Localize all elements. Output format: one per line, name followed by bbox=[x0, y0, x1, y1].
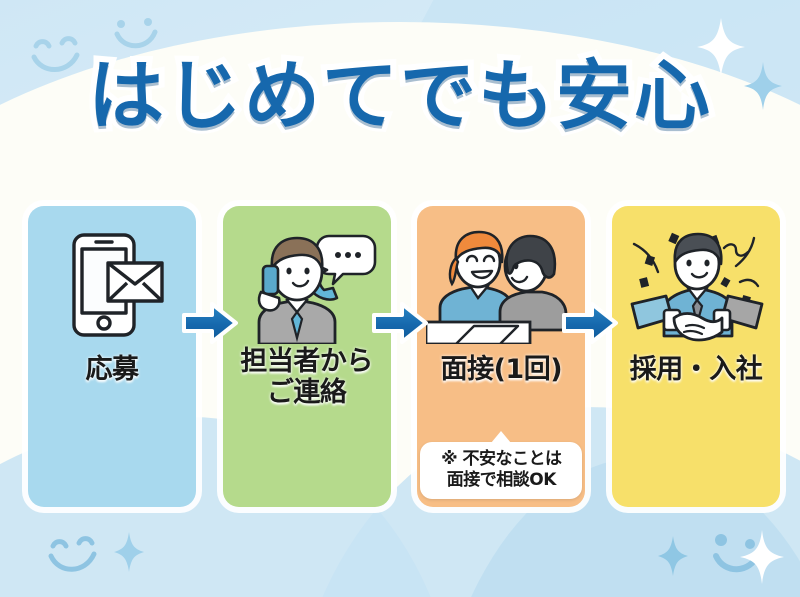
page-title: はじめてでも安心 bbox=[0, 58, 800, 134]
handshake-celebration-icon bbox=[612, 224, 780, 346]
note-line: ※ 不安なことは bbox=[424, 449, 578, 470]
step-card-interview[interactable]: 面接(1回) ※ 不安なことは 面接で相談OK bbox=[417, 206, 585, 507]
sparkle-blue-icon bbox=[658, 536, 688, 580]
arrow-right-icon bbox=[182, 301, 238, 345]
arrow-right-icon bbox=[372, 301, 428, 345]
smiley-arc-eyes-icon bbox=[42, 530, 104, 580]
interview-desk-icon bbox=[417, 224, 585, 346]
arrow-right-icon bbox=[562, 301, 618, 345]
sparkle-white-icon bbox=[740, 530, 784, 588]
step-label-interview: 面接(1回) bbox=[421, 354, 581, 385]
step-label-contact: 担当者から ご連絡 bbox=[227, 346, 387, 408]
step-label-line: ご連絡 bbox=[267, 377, 347, 408]
step-card-contact[interactable]: 担当者から ご連絡 bbox=[223, 206, 391, 507]
poster-canvas: はじめてでも安心 bbox=[0, 0, 800, 597]
step-label-apply: 応募 bbox=[32, 354, 192, 385]
sparkle-blue-icon bbox=[114, 532, 144, 576]
smartphone-envelope-icon bbox=[28, 224, 196, 346]
interview-note-bubble: ※ 不安なことは 面接で相談OK bbox=[420, 442, 582, 500]
step-card-hired[interactable]: 採用・入社 bbox=[612, 206, 780, 507]
step-card-apply[interactable]: 応募 bbox=[28, 206, 196, 507]
steps-row: 応募 bbox=[28, 206, 780, 507]
step-label-line: 担当者から bbox=[240, 346, 373, 377]
man-on-phone-icon bbox=[223, 224, 391, 346]
note-line: 面接で相談OK bbox=[424, 470, 578, 491]
step-label-hired: 採用・入社 bbox=[616, 354, 776, 385]
